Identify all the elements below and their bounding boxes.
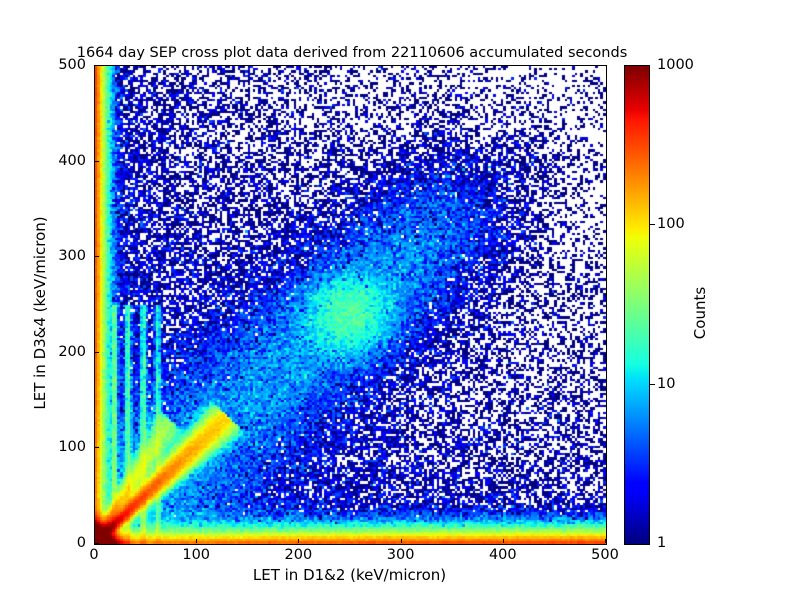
title-line-1: 1664 day SEP cross plot data derived fro… [0,44,704,63]
colorbar-tick-label: 100 [657,216,685,232]
y-tick-mark [95,65,99,66]
colorbar-tick-mark [650,384,655,385]
x-tick-mark [196,539,197,543]
colorbar-gradient [625,66,649,544]
colorbar-tick-label: 1 [657,535,666,551]
colorbar-tick-label: 10 [657,376,675,392]
x-tick-mark [298,539,299,543]
x-tick-label: 400 [489,547,517,563]
x-tick-label: 500 [591,547,619,563]
x-tick-mark [605,539,606,543]
x-tick-mark [503,539,504,543]
y-tick-label: 500 [40,57,86,73]
y-tick-label: 400 [40,153,86,169]
x-tick-mark [401,539,402,543]
y-axis-label: LET in D3&4 (keV/micron) [31,193,49,433]
x-tick-label: 100 [182,547,210,563]
x-tick-label: 300 [387,547,415,563]
plot-area [94,65,607,545]
colorbar [624,65,650,545]
x-axis-label: LET in D1&2 (keV/micron) [94,566,605,584]
y-tick-mark [95,543,99,544]
colorbar-tick-label: 1000 [657,57,694,73]
y-tick-mark [95,256,99,257]
x-tick-label: 0 [89,547,98,563]
scatter-heatmap-canvas [95,66,606,544]
y-tick-mark [95,352,99,353]
colorbar-tick-mark [650,224,655,225]
y-tick-label: 0 [40,535,86,551]
colorbar-label: Counts [691,253,709,373]
y-tick-mark [95,161,99,162]
x-tick-label: 200 [285,547,313,563]
y-tick-label: 100 [40,439,86,455]
y-tick-mark [95,447,99,448]
figure: 1664 day SEP cross plot data derived fro… [0,0,800,600]
